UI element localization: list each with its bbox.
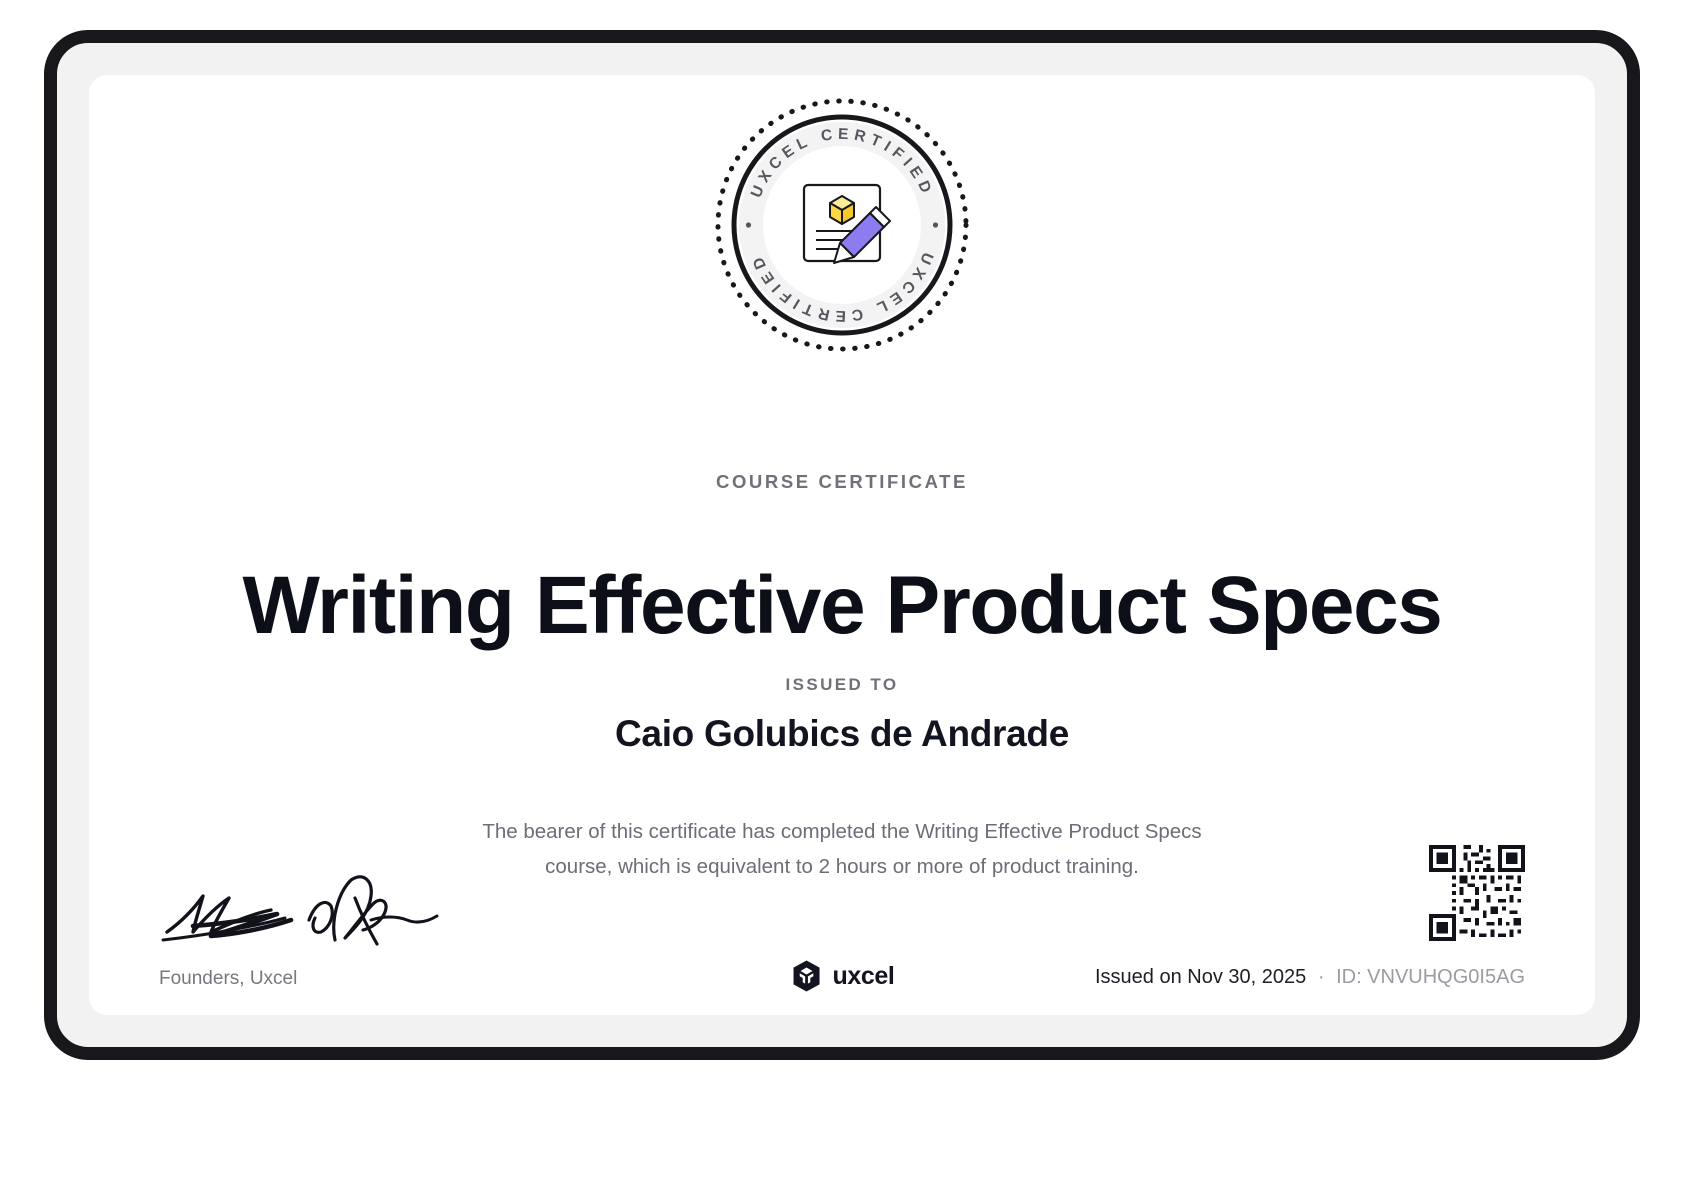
founder-signatures <box>159 870 459 950</box>
certificate-id: ID: VNVUHQG0I5AG <box>1336 966 1525 988</box>
uxcel-logo-icon <box>790 959 824 993</box>
issued-to-label: ISSUED TO <box>89 675 1595 695</box>
issue-separator: · <box>1312 966 1331 988</box>
certificate-type-label: COURSE CERTIFICATE <box>89 471 1595 493</box>
document-cube-pencil-icon <box>804 185 890 263</box>
certificate-seal: UXCEL CERTIFIED UXCEL CERTIFIED <box>89 95 1595 355</box>
course-title: Writing Effective Product Specs <box>89 562 1595 651</box>
founders-label: Founders, Uxcel <box>159 968 297 990</box>
issue-date: Issued on Nov 30, 2025 <box>1095 966 1306 988</box>
certificate-description: The bearer of this certificate has compl… <box>482 814 1202 885</box>
certificate-frame: UXCEL CERTIFIED UXCEL CERTIFIED <box>44 30 1640 1060</box>
uxcel-brand: uxcel <box>790 959 895 993</box>
recipient-name: Caio Golubics de Andrade <box>89 713 1595 755</box>
issue-info: Issued on Nov 30, 2025 · ID: VNVUHQG0I5A… <box>1095 966 1525 989</box>
uxcel-brand-name: uxcel <box>833 962 895 991</box>
verification-qr-code[interactable] <box>1429 845 1525 941</box>
certificate-card: UXCEL CERTIFIED UXCEL CERTIFIED <box>89 75 1595 1015</box>
